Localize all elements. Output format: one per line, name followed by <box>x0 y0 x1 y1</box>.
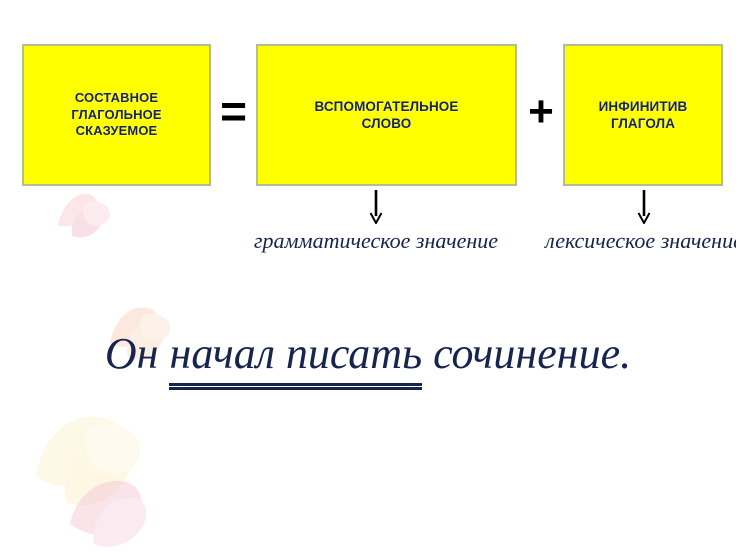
leaf-watermark-icon <box>60 468 156 552</box>
grammatical-meaning-label: грамматическое значение <box>240 225 512 257</box>
down-arrow-icon <box>366 190 386 224</box>
leaf-watermark-icon <box>22 398 154 518</box>
example-predicate-text: начал писать <box>169 328 422 386</box>
example-subject-text: Он <box>105 329 170 378</box>
equals-operator: = <box>211 88 256 134</box>
example-object-text: сочинение. <box>422 329 631 378</box>
slide-canvas: СОСТАВНОЕ ГЛАГОЛЬНОЕ СКАЗУЕМОЕ = ВСПОМОГ… <box>0 0 736 552</box>
plus-operator: + <box>519 90 563 134</box>
leaf-watermark-icon <box>48 186 116 248</box>
lexical-meaning-label: лексическое значение <box>540 225 736 257</box>
box-compound-verbal-predicate: СОСТАВНОЕ ГЛАГОЛЬНОЕ СКАЗУЕМОЕ <box>22 44 211 186</box>
example-sentence: Он начал писать сочинение. <box>0 328 736 386</box>
box-verb-infinitive-label: ИНФИНИТИВ ГЛАГОЛА <box>599 98 688 133</box>
box-auxiliary-word: ВСПОМОГАТЕЛЬНОЕ СЛОВО <box>256 44 517 186</box>
box-verb-infinitive: ИНФИНИТИВ ГЛАГОЛА <box>563 44 723 186</box>
box-compound-verbal-predicate-label: СОСТАВНОЕ ГЛАГОЛЬНОЕ СКАЗУЕМОЕ <box>71 90 161 140</box>
down-arrow-icon <box>634 190 654 224</box>
box-auxiliary-word-label: ВСПОМОГАТЕЛЬНОЕ СЛОВО <box>315 98 459 133</box>
